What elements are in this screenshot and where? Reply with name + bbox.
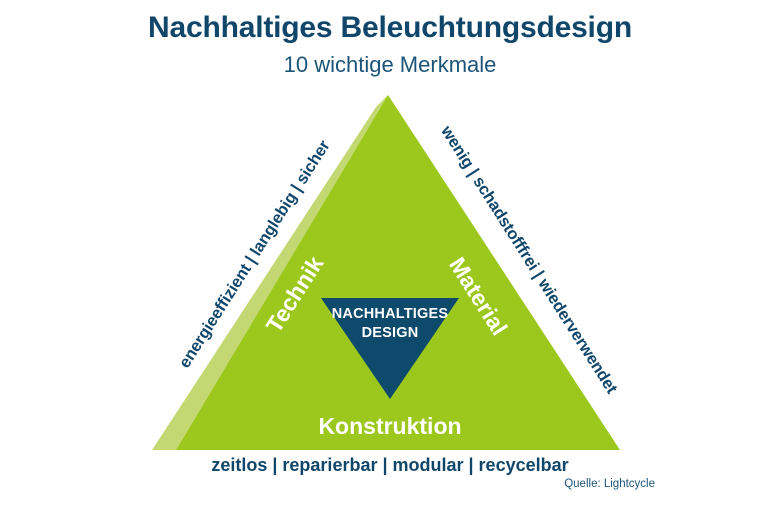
core-triangle-text: NACHHALTIGES DESIGN	[300, 305, 480, 343]
face-label-konstruktion: Konstruktion	[240, 413, 540, 440]
source-credit: Quelle: Lightcycle	[0, 478, 780, 490]
core-text-line-2: DESIGN	[300, 324, 480, 343]
core-text-line-1: NACHHALTIGES	[300, 305, 480, 324]
infographic-canvas: Nachhaltiges Beleuchtungsdesign 10 wicht…	[0, 0, 780, 508]
edge-label-konstruktion: zeitlos | reparierbar | modular | recyce…	[0, 455, 780, 476]
